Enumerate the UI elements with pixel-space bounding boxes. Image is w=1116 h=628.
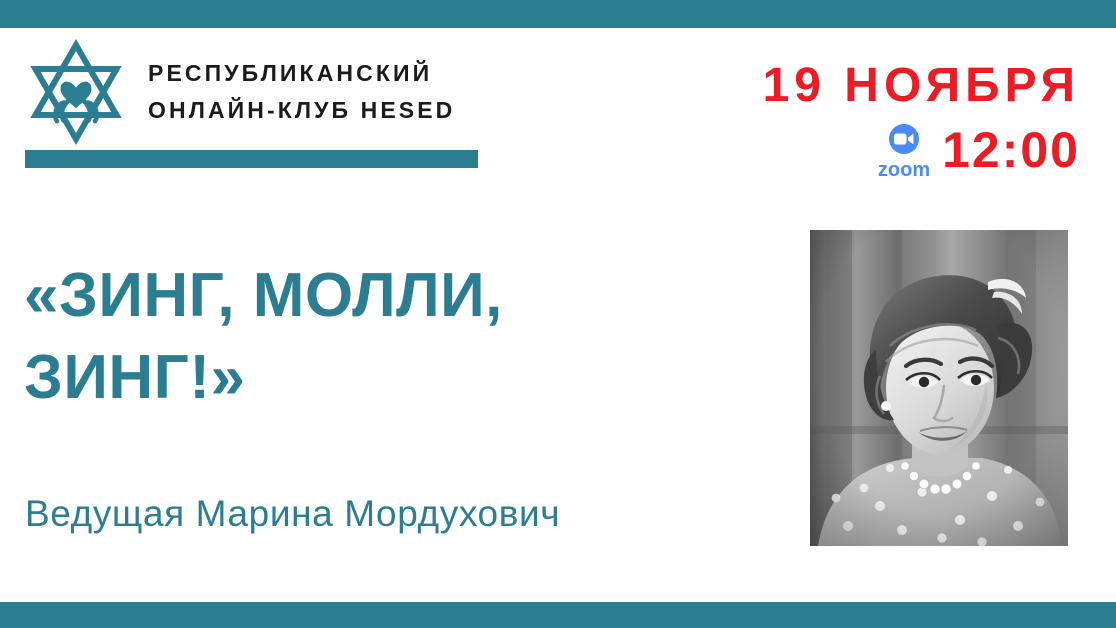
zoom-camera-icon <box>884 119 924 159</box>
page-title-line-1: «ЗИНГ, МОЛЛИ, <box>24 255 724 337</box>
organization-name-line-1: РЕСПУБЛИКАНСКИЙ <box>148 55 455 92</box>
star-of-david-heart-hands-icon <box>22 38 130 146</box>
logo-underline-bar <box>25 150 478 168</box>
page-title-line-2: ЗИНГ!» <box>24 337 724 419</box>
top-accent-bar <box>0 0 1116 28</box>
bottom-accent-bar <box>0 602 1116 628</box>
event-time-row: zoom 12:00 <box>763 119 1080 182</box>
event-datetime-block: 19 НОЯБРЯ zoom 12:00 <box>763 62 1080 182</box>
page-title: «ЗИНГ, МОЛЛИ, ЗИНГ!» <box>24 255 724 419</box>
organization-name: РЕСПУБЛИКАНСКИЙ ОНЛАЙН-КЛУБ HESED <box>148 55 455 130</box>
zoom-wordmark: zoom <box>878 160 930 180</box>
host-portrait-photo <box>810 230 1068 546</box>
event-date: 19 НОЯБРЯ <box>763 62 1080 111</box>
event-time: 12:00 <box>942 125 1080 175</box>
event-host: Ведущая Марина Мордухович <box>25 492 560 536</box>
event-poster: РЕСПУБЛИКАНСКИЙ ОНЛАЙН-КЛУБ HESED 19 НОЯ… <box>0 0 1116 628</box>
organization-logo-lockup: РЕСПУБЛИКАНСКИЙ ОНЛАЙН-КЛУБ HESED <box>22 38 455 146</box>
organization-name-line-2: ОНЛАЙН-КЛУБ HESED <box>148 92 455 129</box>
zoom-logo: zoom <box>878 119 930 180</box>
